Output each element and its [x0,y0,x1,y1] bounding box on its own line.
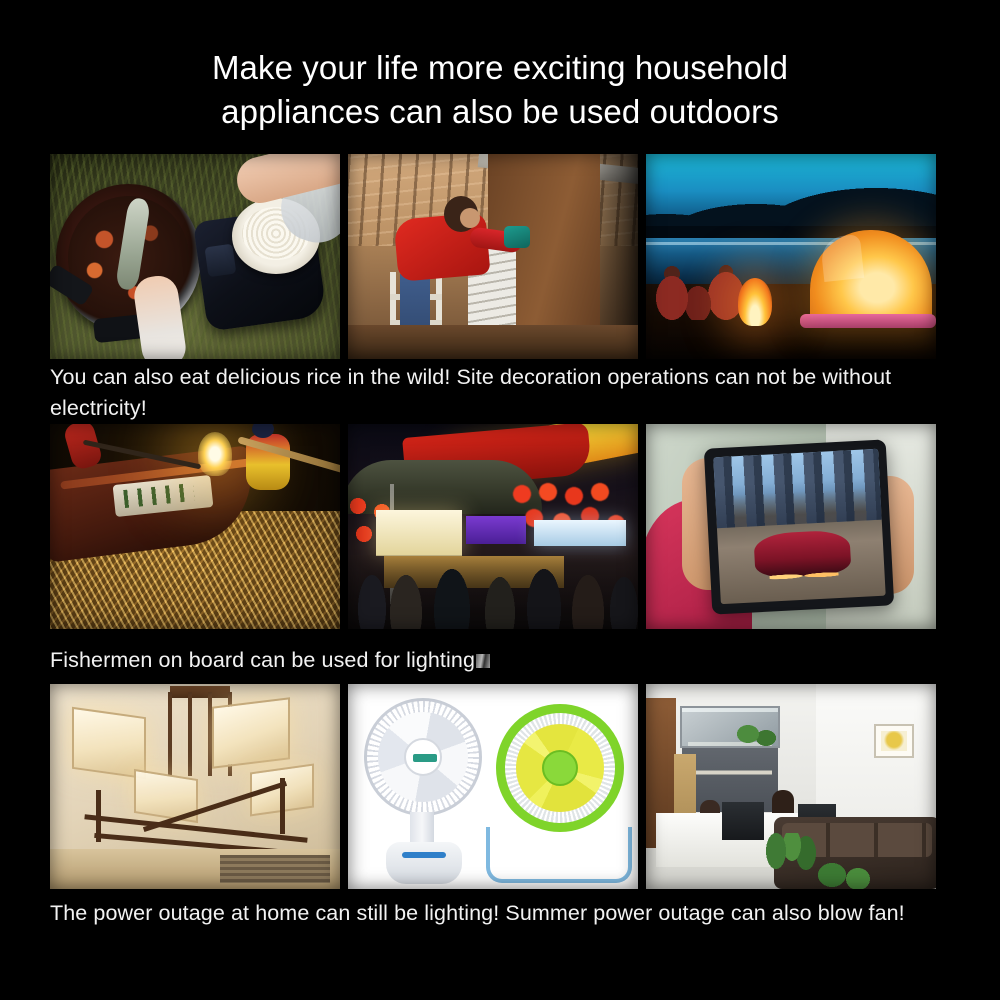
power-tool [504,226,530,248]
scene-chandelier [50,684,340,889]
image-cell-night-fishing [50,424,340,629]
lit-stall-sign-1 [376,510,462,556]
frame-bar-d1 [143,781,287,832]
worker-head [444,196,478,232]
tablet-screen [713,449,885,604]
framed-picture [874,724,914,758]
image-cell-electric-fans [348,684,638,889]
caption-row-2-text: Fishermen on board can be used for light… [50,648,475,672]
image-row-1 [50,154,932,359]
scene-outdoor-cooking [50,154,340,359]
image-row-3 [50,684,932,889]
frame-bar-v1 [96,790,101,842]
fishing-lamp [198,432,232,476]
scene-night-fishing [50,424,340,629]
desk-fan-hub [542,750,578,786]
image-cell-office-interior [646,684,936,889]
page-title: Make your life more exciting household a… [0,46,1000,134]
office-plant-2 [814,849,884,889]
scene-electric-fans [348,684,638,889]
monitor-1 [722,802,764,840]
lit-stall-sign-3 [534,520,626,546]
lit-stall-sign-2 [466,516,526,544]
image-cell-tablet-gaming [646,424,936,629]
scene-office-interior [646,684,936,889]
pedestal-fan-hub [404,738,442,776]
tent-base [800,314,936,328]
pedestal-fan-neck [410,812,434,846]
office-plant-3 [734,720,778,750]
caption-compression-artifact [476,654,490,668]
scene-tablet-gaming [646,424,936,629]
scene-night-market [348,424,638,629]
campfire [738,278,772,326]
pedestal-fan-base [386,842,462,884]
floor [348,325,638,359]
market-crowd [348,555,638,629]
image-cell-construction-worker [348,154,638,359]
caption-row-3: The power outage at home can still be li… [50,898,940,929]
game-vehicle [754,530,852,579]
image-cell-camping-tent [646,154,936,359]
caption-row-1: You can also eat delicious rice in the w… [50,362,940,424]
tablet-device [704,439,894,614]
desk-fan-stand [486,827,632,883]
image-cell-outdoor-rice-cooking [50,154,340,359]
infographic-page: Make your life more exciting household a… [0,0,1000,1000]
room-background-shelf [50,849,340,889]
lamp-shade-2 [212,697,290,769]
image-cell-chandelier [50,684,340,889]
office-plant-1 [762,833,820,889]
caption-row-2: Fishermen on board can be used for light… [50,645,940,676]
scene-worker-ladder [348,154,638,359]
scene-lakeside-camping [646,154,936,359]
game-city-skyline [713,449,881,528]
image-cell-night-market [348,424,638,629]
image-row-2 [50,424,932,629]
